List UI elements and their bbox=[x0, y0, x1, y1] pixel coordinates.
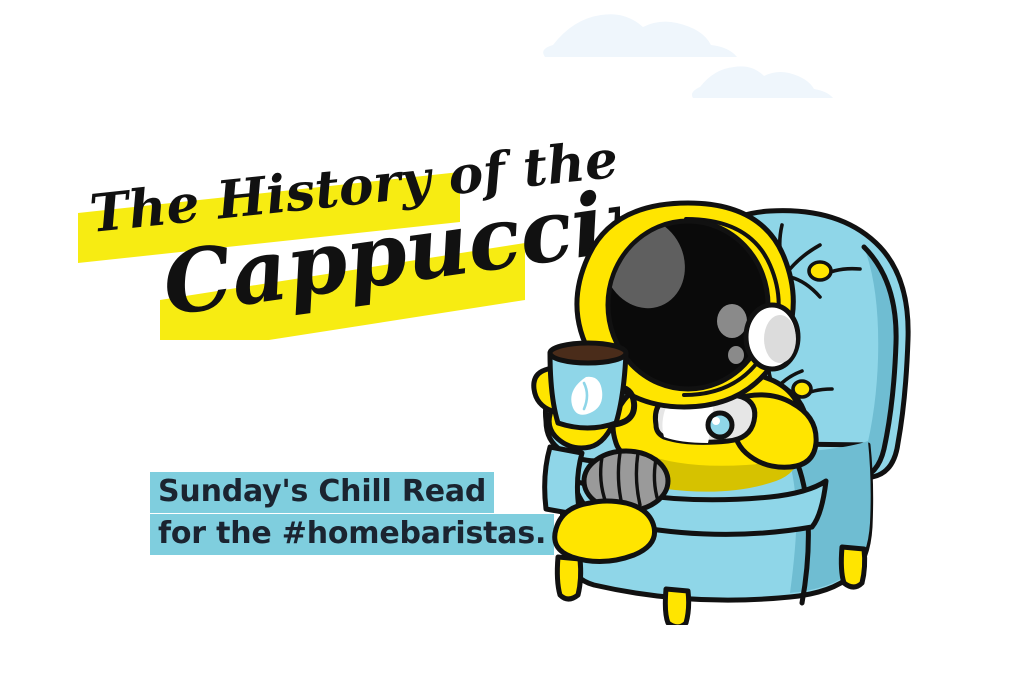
subtitle-line-1: Sunday's Chill Read bbox=[150, 472, 494, 513]
subtitle-block: Sunday's Chill Read for the #homebarista… bbox=[150, 472, 554, 555]
helmet-visor bbox=[608, 221, 768, 389]
cloud-icon bbox=[692, 66, 833, 98]
backrest-tufted-button-upper bbox=[809, 262, 831, 280]
boot-left bbox=[555, 501, 655, 562]
astronaut-armchair-svg bbox=[520, 185, 970, 625]
control-panel-button bbox=[708, 413, 732, 437]
chair-leg-right bbox=[841, 547, 864, 587]
chair-leg-left bbox=[557, 557, 580, 599]
subtitle-line-2: for the #homebaristas. bbox=[150, 514, 554, 555]
illustration-astronaut-in-armchair bbox=[520, 185, 970, 625]
chair-leg-center bbox=[665, 589, 688, 625]
headphone-earcup bbox=[746, 305, 798, 369]
mug-coffee-surface bbox=[550, 343, 626, 363]
poster-canvas: The History of the.. Cappuccino! Sunday'… bbox=[0, 0, 1024, 683]
